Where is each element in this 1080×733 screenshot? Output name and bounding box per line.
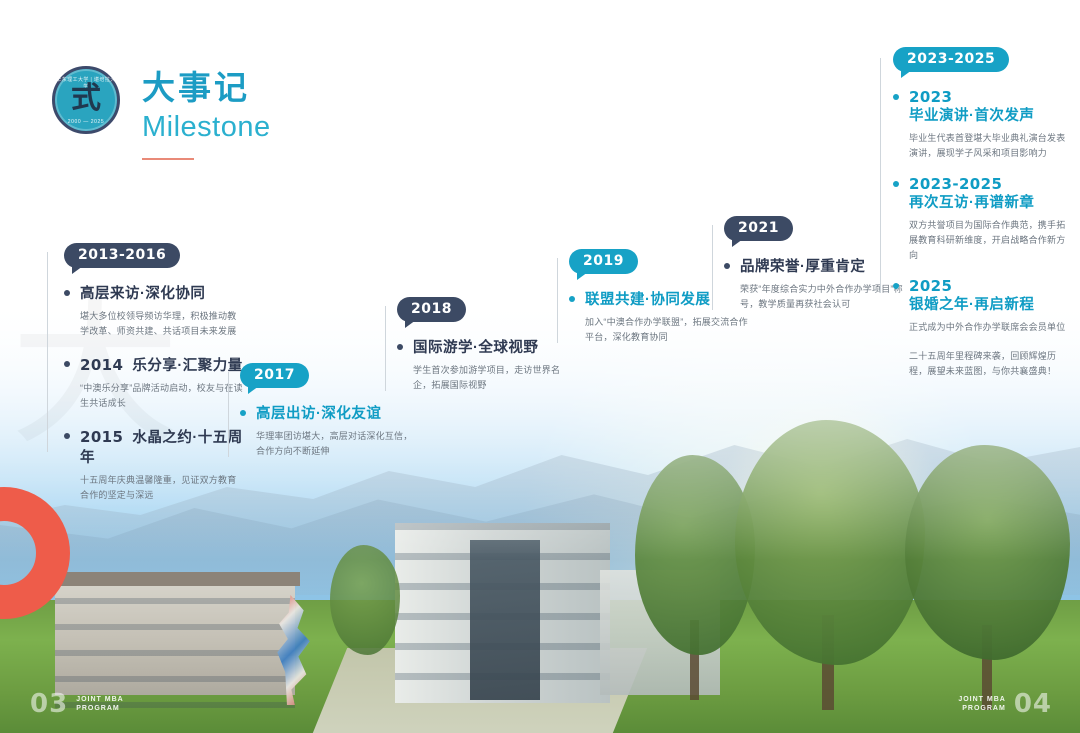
timeline-axis <box>47 252 48 452</box>
timeline-bullet-dot <box>397 344 403 350</box>
timeline-group-2013-2016: 2013-2016 高层来访·深化协同 堪大多位校领导频访华理，积极推动教学改革… <box>64 243 244 503</box>
building-main-dark-wing <box>470 540 540 700</box>
entry-headline-text: 乐分享·汇聚力量 <box>132 358 242 374</box>
timeline-axis <box>228 372 229 457</box>
footer-left: 03 JOINT MBA PROGRAM <box>30 689 124 719</box>
timeline-axis <box>712 225 713 310</box>
entry-description: 双方共誉项目为国际合作典范，携手拓展教育科研新维度，开启战略合作新方向 <box>909 218 1073 263</box>
entry-headline: 国际游学·全球视野 <box>413 338 577 358</box>
timeline-bullet-dot <box>893 181 899 187</box>
entry-year: 2023 <box>909 88 1073 106</box>
entry-description: 十五周年庆典温馨隆重，见证双方教育合作的坚定与深远 <box>80 473 244 503</box>
entry-description: 正式成为中外合作办学联席会会员单位 <box>909 320 1073 335</box>
timeline-bullet-dot <box>240 410 246 416</box>
logo-years: 2000 — 2025 <box>55 119 117 125</box>
brand-line-1: JOINT MBA <box>76 695 124 704</box>
timeline-period-tag: 2021 <box>724 216 793 241</box>
entry-headline: 2014 乐分享·汇聚力量 <box>80 355 244 376</box>
milestone-page: 大 华东理工大学 | 堪培拉大学 式 2000 — 2025 大事记 Miles… <box>0 0 1080 733</box>
timeline-axis <box>385 306 386 391</box>
entry-headline: 再次互访·再谱新章 <box>909 193 1073 213</box>
entry-description: 堪大多位校领导频访华理，积极推动教学改革、师资共建、共话项目未来发展 <box>80 309 244 339</box>
timeline-bullet-dot <box>724 263 730 269</box>
brand-line-1: JOINT MBA <box>958 695 1006 704</box>
timeline-group-2021: 2021 品牌荣誉·厚重肯定 荣获“年度综合实力中外合作办学项目”称号，教学质量… <box>724 216 914 312</box>
timeline-period-tag: 2013-2016 <box>64 243 180 268</box>
timeline-axis <box>557 258 558 343</box>
brand-line-2: PROGRAM <box>958 704 1006 713</box>
timeline-bullet-dot <box>64 433 70 439</box>
timeline-entry: 2015 水晶之约·十五周年 十五周年庆典温馨隆重，见证双方教育合作的坚定与深远 <box>64 427 244 503</box>
brand-line-2: PROGRAM <box>76 704 124 713</box>
timeline-group-2017: 2017 高层出访·深化友谊 华理率团访堪大，高层对话深化互信，合作方向不断延伸 <box>240 363 415 459</box>
page-header: 华东理工大学 | 堪培拉大学 式 2000 — 2025 大事记 Milesto… <box>52 66 271 160</box>
timeline-period-tag: 2019 <box>569 249 638 274</box>
timeline-bullet-dot <box>893 94 899 100</box>
footer-right: JOINT MBA PROGRAM 04 <box>958 689 1052 719</box>
timeline-entry: 国际游学·全球视野 学生首次参加游学项目，走访世界名企，拓展国际视野 <box>397 338 577 393</box>
entry-year: 2023-2025 <box>909 175 1073 193</box>
tree-canopy <box>330 545 400 655</box>
timeline-bullet-dot <box>569 296 575 302</box>
entry-headline: 2015 水晶之约·十五周年 <box>80 427 244 468</box>
page-title: 大事记 <box>142 68 271 108</box>
timeline-group-2023-2025: 2023-2025 2023 毕业演讲·首次发声 毕业生代表首登堪大毕业典礼演台… <box>893 47 1073 379</box>
entry-headline: 银婚之年·再启新程 <box>909 295 1073 315</box>
timeline-entry: 品牌荣誉·厚重肯定 荣获“年度综合实力中外合作办学项目”称号，教学质量再获社会认… <box>724 257 914 312</box>
timeline-axis <box>880 58 881 293</box>
entry-description-secondary: 二十五周年里程碑来袭，回顾辉煌历程，展望未来蓝图，与你共襄盛典！ <box>909 349 1073 379</box>
building-left <box>55 580 295 695</box>
timeline-entry: 高层来访·深化协同 堪大多位校领导频访华理，积极推动教学改革、师资共建、共话项目… <box>64 284 244 339</box>
building-left-roof <box>50 572 300 586</box>
title-underline <box>142 158 194 160</box>
page-title-block: 大事记 Milestone <box>142 66 271 160</box>
brand-mark-left: JOINT MBA PROGRAM <box>76 695 124 713</box>
entry-year: 2025 <box>909 277 1073 295</box>
page-subtitle: Milestone <box>142 108 271 146</box>
entry-headline: 高层来访·深化协同 <box>80 284 244 304</box>
timeline-entry: 2014 乐分享·汇聚力量 “中澳乐分享”品牌活动启动，校友与在读生共话成长 <box>64 355 244 411</box>
entry-headline: 品牌荣誉·厚重肯定 <box>740 257 914 277</box>
entry-headline: 高层出访·深化友谊 <box>256 404 415 424</box>
timeline-entry: 2023 毕业演讲·首次发声 毕业生代表首登堪大毕业典礼演台发表演讲，展现学子风… <box>893 88 1073 161</box>
entry-description: “中澳乐分享”品牌活动启动，校友与在读生共话成长 <box>80 381 244 411</box>
timeline-period-tag: 2023-2025 <box>893 47 1009 72</box>
timeline-period-tag: 2017 <box>240 363 309 388</box>
logo-glyph: 式 <box>55 84 117 114</box>
entry-description: 学生首次参加游学项目，走访世界名企，拓展国际视野 <box>413 363 577 393</box>
timeline-entry: 高层出访·深化友谊 华理率团访堪大，高层对话深化互信，合作方向不断延伸 <box>240 404 415 459</box>
entry-headline: 毕业演讲·首次发声 <box>909 106 1073 126</box>
university-seal-logo: 华东理工大学 | 堪培拉大学 式 2000 — 2025 <box>52 66 120 134</box>
entry-description: 华理率团访堪大，高层对话深化互信，合作方向不断延伸 <box>256 429 415 459</box>
brand-mark-right: JOINT MBA PROGRAM <box>958 695 1006 713</box>
timeline-bullet-dot <box>893 283 899 289</box>
timeline-period-tag: 2018 <box>397 297 466 322</box>
entry-description: 加入“中澳合作办学联盟”，拓展交流合作平台，深化教育协同 <box>585 315 754 345</box>
timeline-entry: 2023-2025 再次互访·再谱新章 双方共誉项目为国际合作典范，携手拓展教育… <box>893 175 1073 263</box>
entry-description: 荣获“年度综合实力中外合作办学项目”称号，教学质量再获社会认可 <box>740 282 914 312</box>
entry-year: 2014 <box>80 356 123 374</box>
page-number-left: 03 <box>30 689 68 719</box>
timeline-group-2018: 2018 国际游学·全球视野 学生首次参加游学项目，走访世界名企，拓展国际视野 <box>397 297 577 393</box>
page-number-right: 04 <box>1014 689 1052 719</box>
entry-year: 2015 <box>80 428 123 446</box>
timeline-entry: 2025 银婚之年·再启新程 正式成为中外合作办学联席会会员单位 二十五周年里程… <box>893 277 1073 379</box>
timeline-bullet-dot <box>64 290 70 296</box>
timeline-bullet-dot <box>64 361 70 367</box>
entry-description: 毕业生代表首登堪大毕业典礼演台发表演讲，展现学子风采和项目影响力 <box>909 131 1073 161</box>
